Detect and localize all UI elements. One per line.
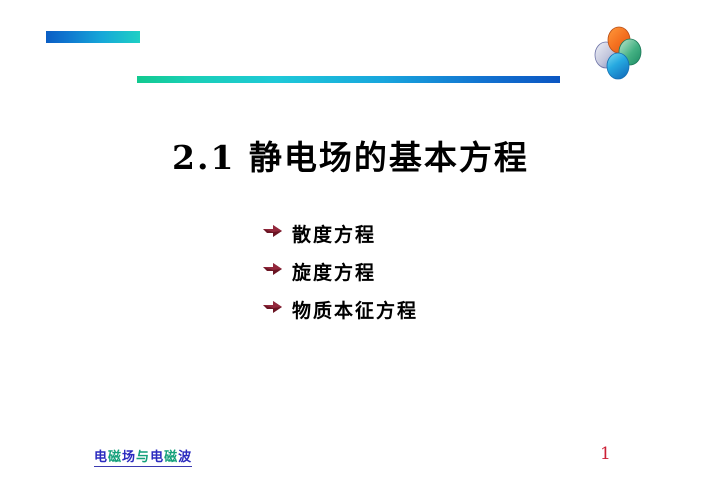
list-item: 旋度方程 — [262, 252, 418, 290]
footer-link-char-5: 磁 — [164, 450, 178, 465]
four-ellipse-logo-icon — [592, 24, 644, 82]
bullet-list: 散度方程 旋度方程 物质本征方程 — [262, 214, 418, 328]
list-item-label: 旋度方程 — [292, 258, 376, 285]
slide-title: 2.1 静电场的基本方程 — [172, 131, 529, 179]
list-item: 散度方程 — [262, 214, 418, 252]
page-number: 1 — [600, 444, 611, 464]
footer-link-char-2: 场 — [122, 450, 136, 465]
list-item: 物质本征方程 — [262, 290, 418, 328]
arrow-bullet-icon — [262, 261, 284, 281]
footer-course-link[interactable]: 电磁场与电磁波 — [94, 446, 192, 467]
presentation-slide: 2.1 静电场的基本方程 散度方程 旋度方程 — [0, 0, 702, 496]
footer-link-char-6: 波 — [178, 450, 192, 465]
arrow-bullet-icon — [262, 299, 284, 319]
list-item-label: 散度方程 — [292, 220, 376, 247]
gradient-bar-short-decoration — [46, 31, 140, 43]
footer-link-char-4: 电 — [150, 450, 164, 465]
list-item-label: 物质本征方程 — [292, 296, 418, 323]
footer-link-char-1: 磁 — [108, 450, 122, 465]
arrow-bullet-icon — [262, 223, 284, 243]
gradient-rule-long-decoration — [137, 76, 560, 83]
footer-link-char-3: 与 — [136, 450, 150, 465]
footer-link-char-0: 电 — [94, 450, 108, 465]
